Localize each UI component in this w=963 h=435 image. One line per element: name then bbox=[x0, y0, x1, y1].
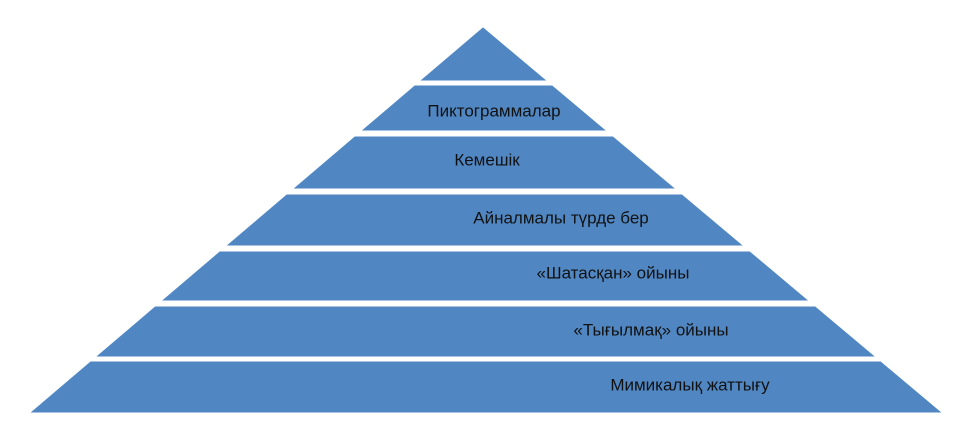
pyramid-level-2[interactable] bbox=[295, 137, 673, 188]
pyramid-shape-layer bbox=[0, 0, 963, 435]
pyramid-level-6[interactable] bbox=[32, 362, 940, 412]
pyramid-level-0[interactable] bbox=[422, 28, 545, 80]
pyramid-level-4[interactable] bbox=[164, 252, 807, 300]
pyramid-level-5[interactable] bbox=[98, 307, 874, 356]
pyramid-diagram: ПиктограммаларКемешікАйналмалы түрде бер… bbox=[0, 0, 963, 435]
pyramid-level-3[interactable] bbox=[228, 195, 741, 245]
pyramid-level-1[interactable] bbox=[363, 86, 604, 130]
